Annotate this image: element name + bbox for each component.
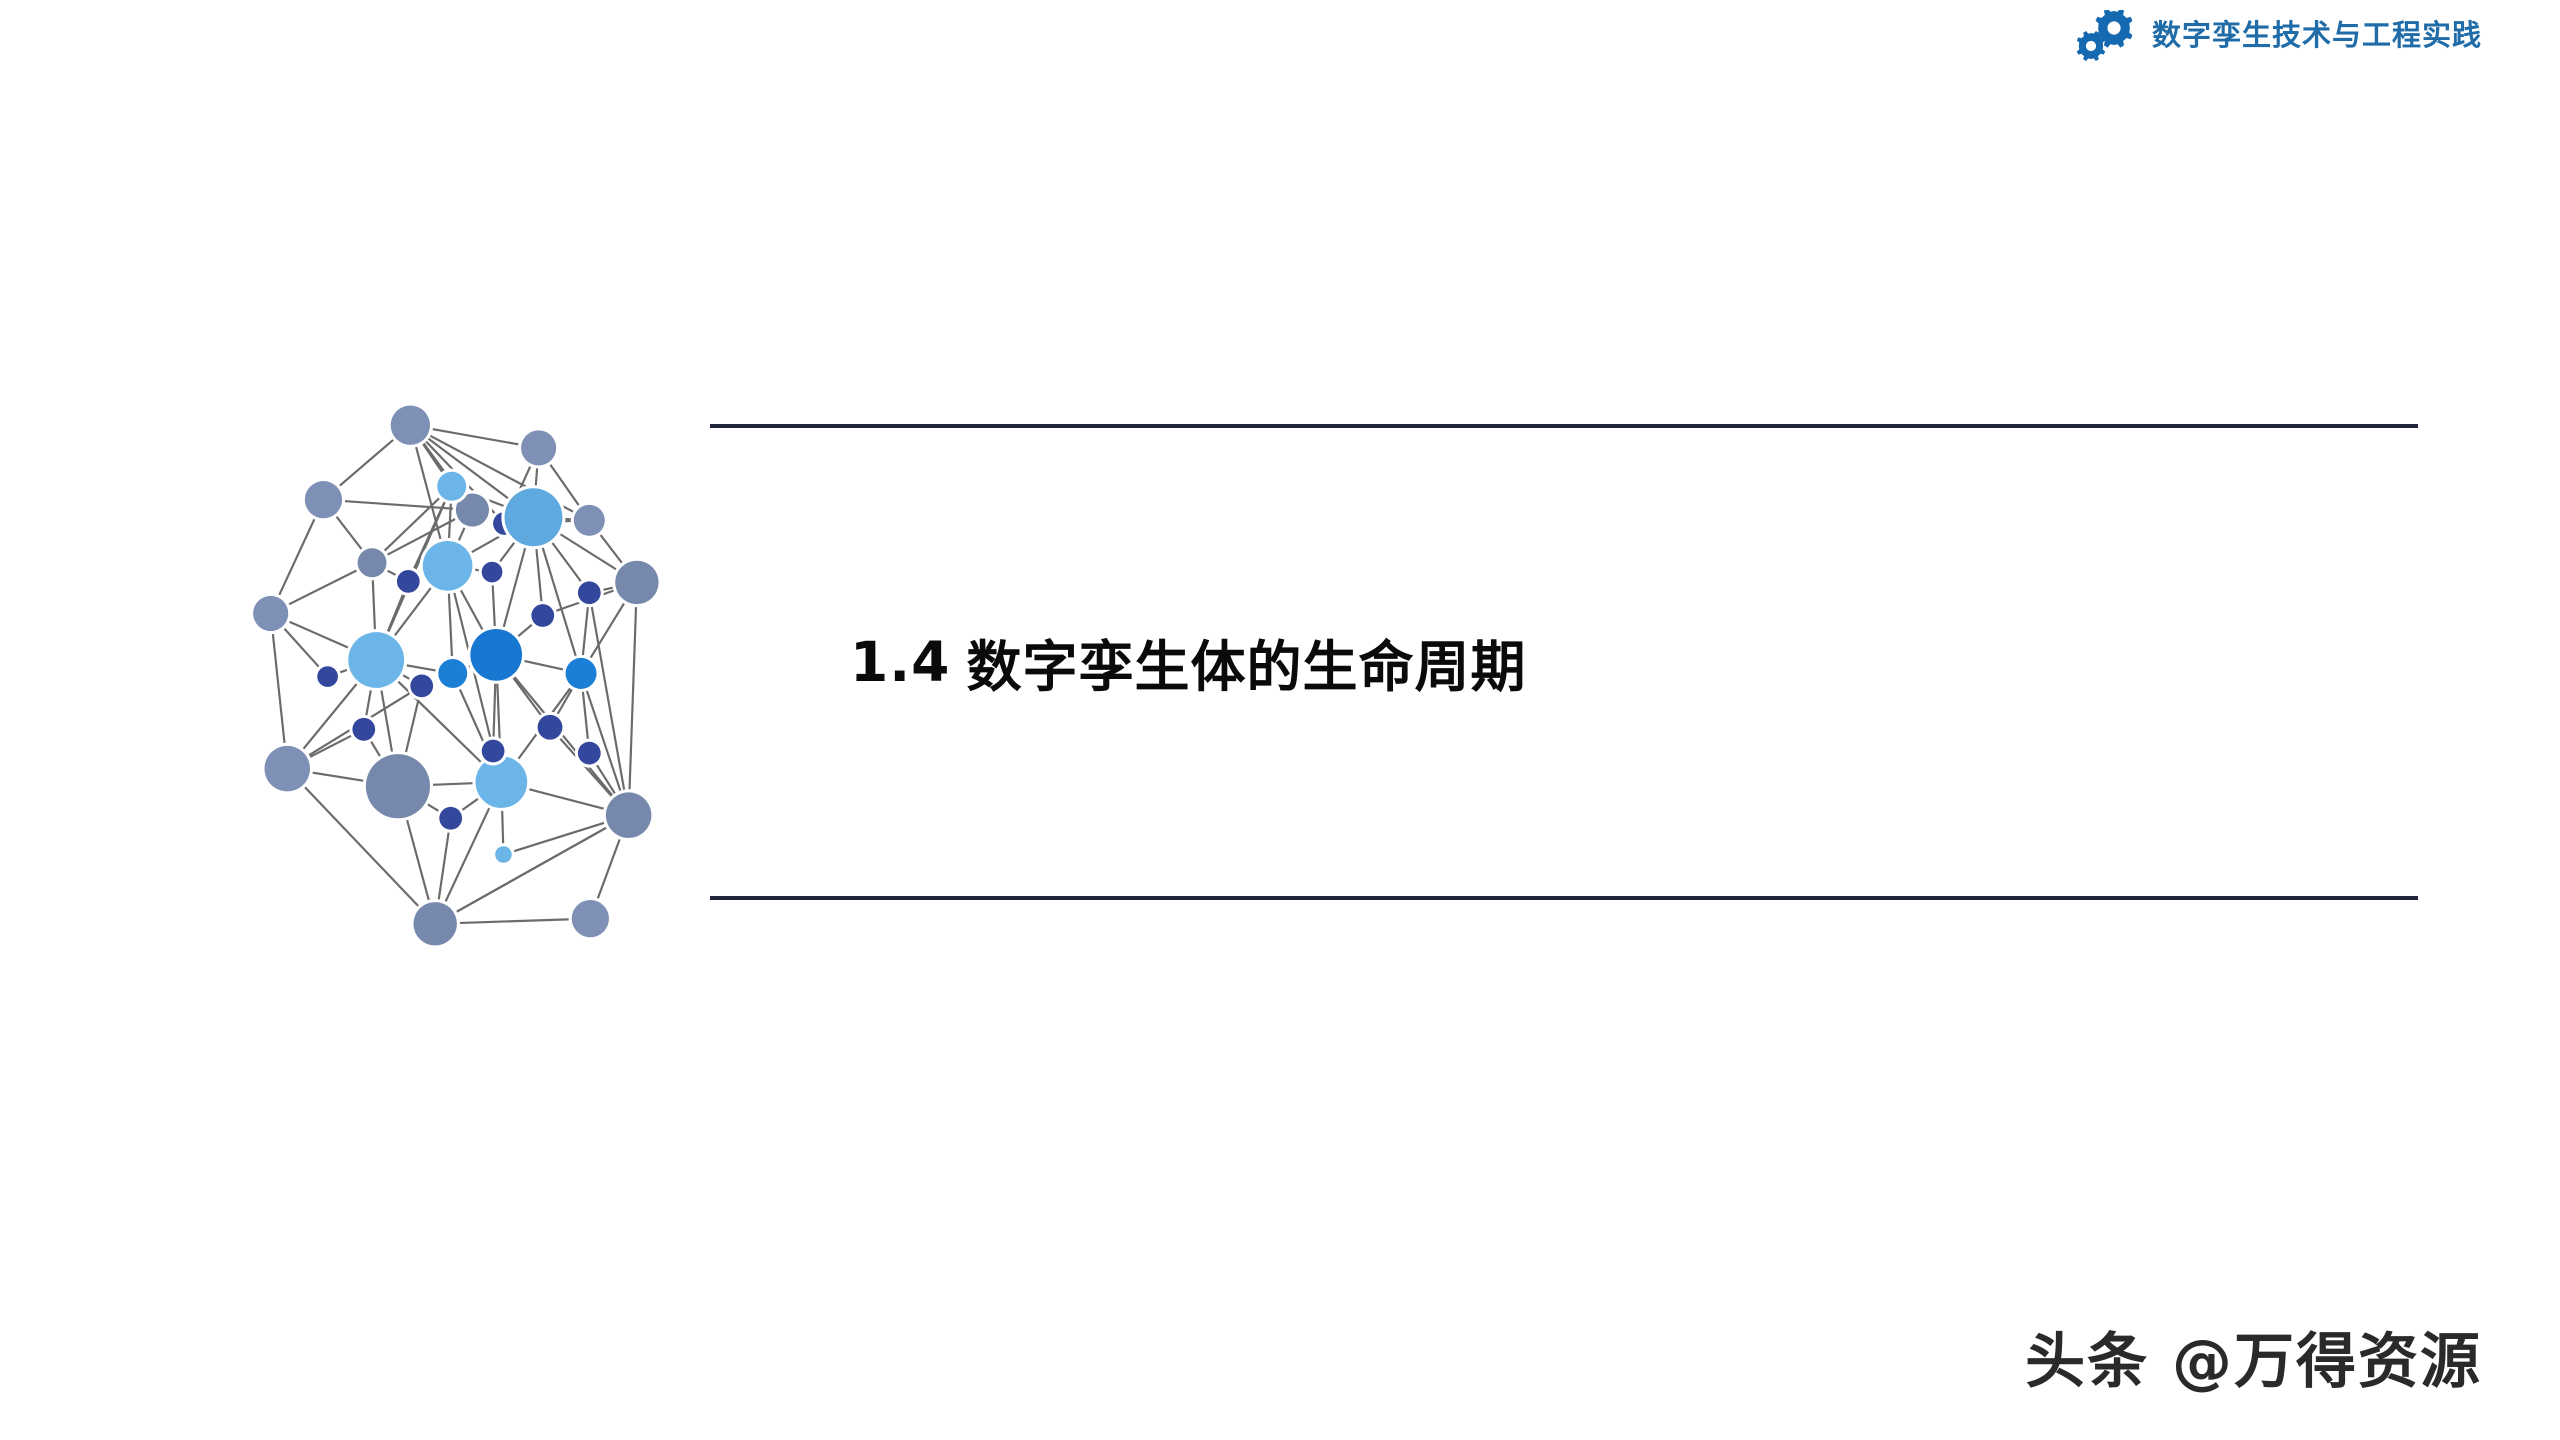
graph-node	[578, 742, 601, 765]
section-title-text: 数字孪生体的生命周期	[966, 622, 1526, 702]
title-rule-bottom	[710, 896, 2418, 900]
graph-node	[397, 570, 420, 593]
graph-node	[423, 541, 473, 591]
slide-body: 1.4 数字孪生体的生命周期 头条 @万得资源	[0, 0, 2560, 1440]
graph-node	[437, 472, 466, 501]
graph-node	[253, 596, 288, 631]
graph-node	[538, 715, 563, 740]
graph-node	[470, 629, 522, 681]
graph-node	[352, 718, 375, 741]
graph-node	[413, 902, 456, 945]
graph-node	[264, 746, 310, 792]
network-graph-illustration	[160, 360, 760, 960]
watermark: 头条 @万得资源	[2025, 1332, 2482, 1392]
graph-node	[578, 581, 601, 604]
graph-node	[410, 674, 433, 697]
graph-node	[606, 792, 652, 838]
graph-node	[566, 658, 597, 689]
graph-node	[439, 807, 462, 830]
graph-node	[358, 548, 387, 577]
section-number: 1.4	[850, 630, 950, 694]
graph-node	[495, 846, 512, 863]
graph-node	[482, 740, 505, 763]
graph-node	[482, 562, 503, 583]
network-graph-svg	[160, 360, 760, 960]
graph-node	[615, 561, 658, 604]
graph-node	[574, 505, 605, 536]
graph-node	[476, 756, 528, 808]
graph-node	[504, 488, 562, 546]
page-title: 1.4 数字孪生体的生命周期	[850, 420, 2410, 904]
graph-node	[348, 632, 404, 688]
graph-node	[531, 604, 554, 627]
graph-node	[305, 481, 342, 518]
graph-node	[572, 900, 609, 937]
graph-node	[521, 430, 556, 465]
graph-node	[438, 659, 467, 688]
graph-node	[391, 406, 430, 445]
graph-node	[317, 666, 338, 687]
title-block: 1.4 数字孪生体的生命周期	[710, 420, 2418, 904]
graph-node	[366, 754, 430, 818]
